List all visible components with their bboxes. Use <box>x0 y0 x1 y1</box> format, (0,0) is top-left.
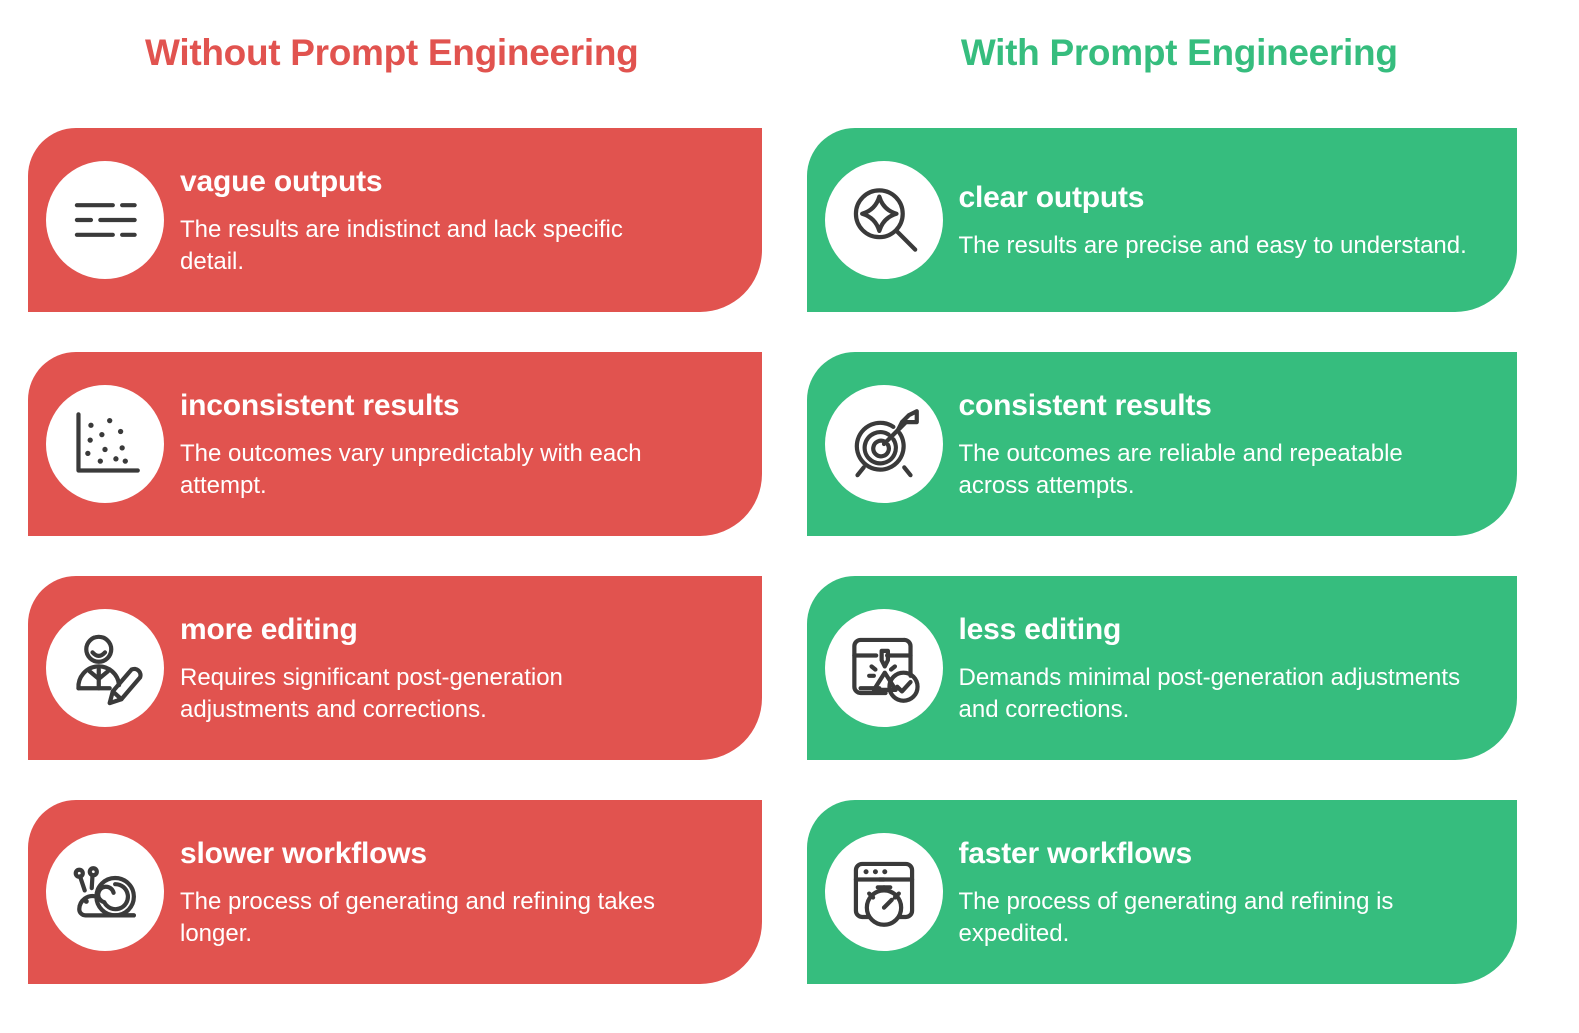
card-title: clear outputs <box>959 181 1496 214</box>
card-title: consistent results <box>959 389 1496 422</box>
card-text-clear-outputs: clear outputs The results are precise an… <box>959 179 1518 262</box>
card-list-without: vague outputs The results are indistinct… <box>0 128 790 984</box>
card-clear-outputs[interactable]: clear outputs The results are precise an… <box>807 128 1518 312</box>
card-text-slower-workflows: slower workflows The process of generati… <box>180 835 762 949</box>
card-description: Requires significant post-generation adj… <box>180 662 690 725</box>
card-text-less-editing: less editing Demands minimal post-genera… <box>959 611 1518 725</box>
card-description: The outcomes vary unpredictably with eac… <box>180 438 690 501</box>
card-title: inconsistent results <box>180 389 740 422</box>
column-heading-with: With Prompt Engineering <box>790 0 1579 128</box>
column-without-prompt-engineering: Without Prompt Engineering <box>0 0 790 1033</box>
card-list-with: clear outputs The results are precise an… <box>790 128 1579 984</box>
card-title: faster workflows <box>959 837 1496 870</box>
card-text-more-editing: more editing Requires significant post-g… <box>180 611 762 725</box>
card-text-faster-workflows: faster workflows The process of generati… <box>959 835 1518 949</box>
card-text-consistent-results: consistent results The outcomes are reli… <box>959 387 1518 501</box>
card-description: The outcomes are reliable and repeatable… <box>959 438 1469 501</box>
person-with-pencil-icon <box>46 609 164 727</box>
card-title: less editing <box>959 613 1496 646</box>
vague-lines-icon <box>46 161 164 279</box>
card-description: The process of generating and refining t… <box>180 886 690 949</box>
scatter-plot-icon <box>46 385 164 503</box>
card-faster-workflows[interactable]: faster workflows The process of generati… <box>807 800 1518 984</box>
card-more-editing[interactable]: more editing Requires significant post-g… <box>28 576 762 760</box>
prompt-engineering-comparison-infographic: Without Prompt Engineering <box>0 0 1579 1033</box>
card-title: more editing <box>180 613 740 646</box>
card-text-inconsistent-results: inconsistent results The outcomes vary u… <box>180 387 762 501</box>
card-vague-outputs[interactable]: vague outputs The results are indistinct… <box>28 128 762 312</box>
card-consistent-results[interactable]: consistent results The outcomes are reli… <box>807 352 1518 536</box>
card-inconsistent-results[interactable]: inconsistent results The outcomes vary u… <box>28 352 762 536</box>
card-slower-workflows[interactable]: slower workflows The process of generati… <box>28 800 762 984</box>
card-title: slower workflows <box>180 837 740 870</box>
card-title: vague outputs <box>180 165 740 198</box>
column-heading-without: Without Prompt Engineering <box>0 0 790 128</box>
column-with-prompt-engineering: With Prompt Engineering <box>790 0 1579 1033</box>
card-document-check[interactable]: less editing Demands minimal post-genera… <box>807 576 1518 760</box>
browser-stopwatch-icon <box>825 833 943 951</box>
magnifier-sparkle-icon <box>825 161 943 279</box>
card-description: The process of generating and refining i… <box>959 886 1469 949</box>
card-description: The results are indistinct and lack spec… <box>180 214 690 277</box>
card-description: Demands minimal post-generation adjustme… <box>959 662 1469 725</box>
comparison-columns: Without Prompt Engineering <box>0 0 1579 1033</box>
document-check-icon <box>825 609 943 727</box>
target-arrow-icon <box>825 385 943 503</box>
card-text-vague-outputs: vague outputs The results are indistinct… <box>180 163 762 277</box>
card-description: The results are precise and easy to unde… <box>959 230 1469 262</box>
snail-icon <box>46 833 164 951</box>
